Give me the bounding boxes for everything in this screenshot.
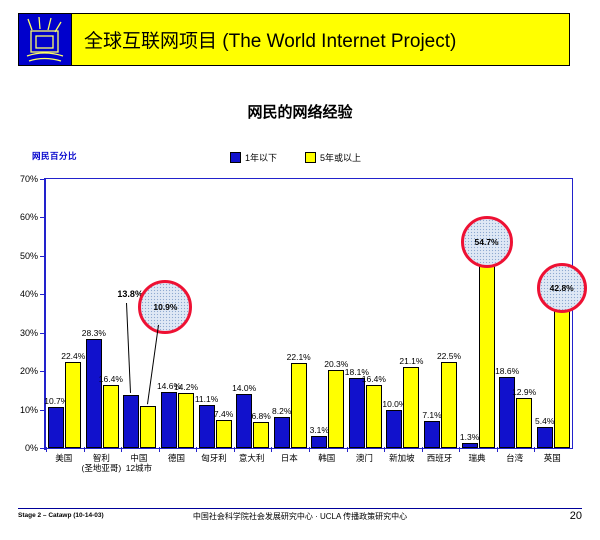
y-tick-label: 60% [2, 212, 38, 222]
bar-blue[interactable] [537, 427, 553, 448]
bar-yellow[interactable] [291, 363, 307, 448]
x-tick-mark [309, 447, 310, 452]
bar-value-label: 16.4% [95, 374, 127, 384]
x-axis-label: 英国 [520, 453, 584, 463]
footer-divider [18, 508, 582, 509]
legend-item-blue: 1年以下 [230, 151, 277, 164]
callout-leader-line [126, 303, 131, 393]
slide-title-banner: 全球互联网项目 (The World Internet Project) [18, 13, 570, 66]
y-tick-label: 0% [2, 443, 38, 453]
chart-title: 网民的网络经验 [0, 101, 600, 122]
x-tick-mark [84, 447, 85, 452]
bar-yellow[interactable] [103, 385, 119, 448]
callout-leader-line [147, 325, 159, 404]
legend-swatch-yellow [305, 152, 316, 163]
callout-circle-42-8: 42.8% [537, 263, 587, 313]
bar-blue[interactable] [311, 436, 327, 448]
legend-label-blue: 1年以下 [245, 151, 277, 164]
bar-value-label: 22.5% [433, 351, 465, 361]
bar-value-label: 14.2% [170, 382, 202, 392]
bar-blue[interactable] [161, 392, 177, 448]
bar-value-label: 11.1% [191, 394, 223, 404]
x-tick-mark [159, 447, 160, 452]
x-tick-mark [384, 447, 385, 452]
y-tick-label: 70% [2, 174, 38, 184]
y-tick-label: 20% [2, 366, 38, 376]
x-tick-mark [46, 447, 47, 452]
footer-page-number: 20 [570, 510, 582, 522]
x-tick-mark [347, 447, 348, 452]
callout-circle-54-7: 54.7% [461, 216, 513, 268]
y-tick-label: 40% [2, 289, 38, 299]
slide-title: 全球互联网项目 (The World Internet Project) [84, 26, 456, 53]
x-tick-mark [534, 447, 535, 452]
chart-plot-area: 10.7%22.4%28.3%16.4%13.8%14.6%14.2%11.1%… [45, 178, 573, 449]
legend-label-yellow: 5年或以上 [320, 151, 361, 164]
chart-plot-wrapper: 0%10%20%30%40%50%60%70% 10.7%22.4%28.3%1… [0, 170, 600, 460]
bar-blue[interactable] [48, 407, 64, 448]
x-tick-mark [422, 447, 423, 452]
bar-blue[interactable] [462, 443, 478, 448]
bar-value-label: 12.9% [508, 387, 540, 397]
bar-value-label: 14.0% [228, 383, 260, 393]
bar-blue[interactable] [86, 339, 102, 448]
bar-blue[interactable] [236, 394, 252, 448]
bar-blue[interactable] [349, 378, 365, 448]
bar-yellow[interactable] [479, 238, 495, 448]
bar-value-label: 18.6% [491, 366, 523, 376]
x-tick-mark [271, 447, 272, 452]
bar-value-label: 16.4% [358, 374, 390, 384]
x-tick-mark [234, 447, 235, 452]
bar-value-label: 22.1% [283, 352, 315, 362]
y-tick-label: 30% [2, 328, 38, 338]
y-axis-title: 网民百分比 [32, 150, 77, 162]
slide-footer: Stage 2 – Catawp (10-14-03) 中国社会科学院社会发展研… [18, 512, 582, 528]
monitor-screen-icon [19, 14, 72, 65]
bar-blue[interactable] [386, 410, 402, 448]
bar-yellow[interactable] [140, 406, 156, 448]
bar-yellow[interactable] [216, 420, 232, 448]
x-tick-mark [121, 447, 122, 452]
slide-title-box: 全球互联网项目 (The World Internet Project) [72, 14, 569, 65]
bar-yellow[interactable] [328, 370, 344, 448]
bar-yellow[interactable] [253, 422, 269, 448]
bar-value-label: 28.3% [78, 328, 110, 338]
bar-value-label: 22.4% [57, 351, 89, 361]
footer-center-text: 中国社会科学院社会发展研究中心 · UCLA 传播政策研究中心 [18, 511, 582, 522]
legend-swatch-blue [230, 152, 241, 163]
bar-yellow[interactable] [403, 367, 419, 448]
legend-item-yellow: 5年或以上 [305, 151, 361, 164]
y-tick-label: 50% [2, 251, 38, 261]
x-tick-mark [196, 447, 197, 452]
bar-value-label: 7.4% [208, 409, 240, 419]
x-tick-mark [459, 447, 460, 452]
bar-blue[interactable] [274, 417, 290, 449]
bar-yellow[interactable] [366, 385, 382, 448]
x-tick-mark [497, 447, 498, 452]
bar-blue[interactable] [424, 421, 440, 448]
callout-circle-10-9: 10.9% [138, 280, 192, 334]
bar-value-label: 21.1% [395, 356, 427, 366]
chart-legend: 1年以下 5年或以上 [230, 151, 361, 164]
bar-yellow[interactable] [65, 362, 81, 448]
bar-blue[interactable] [123, 395, 139, 448]
y-tick-label: 10% [2, 405, 38, 415]
